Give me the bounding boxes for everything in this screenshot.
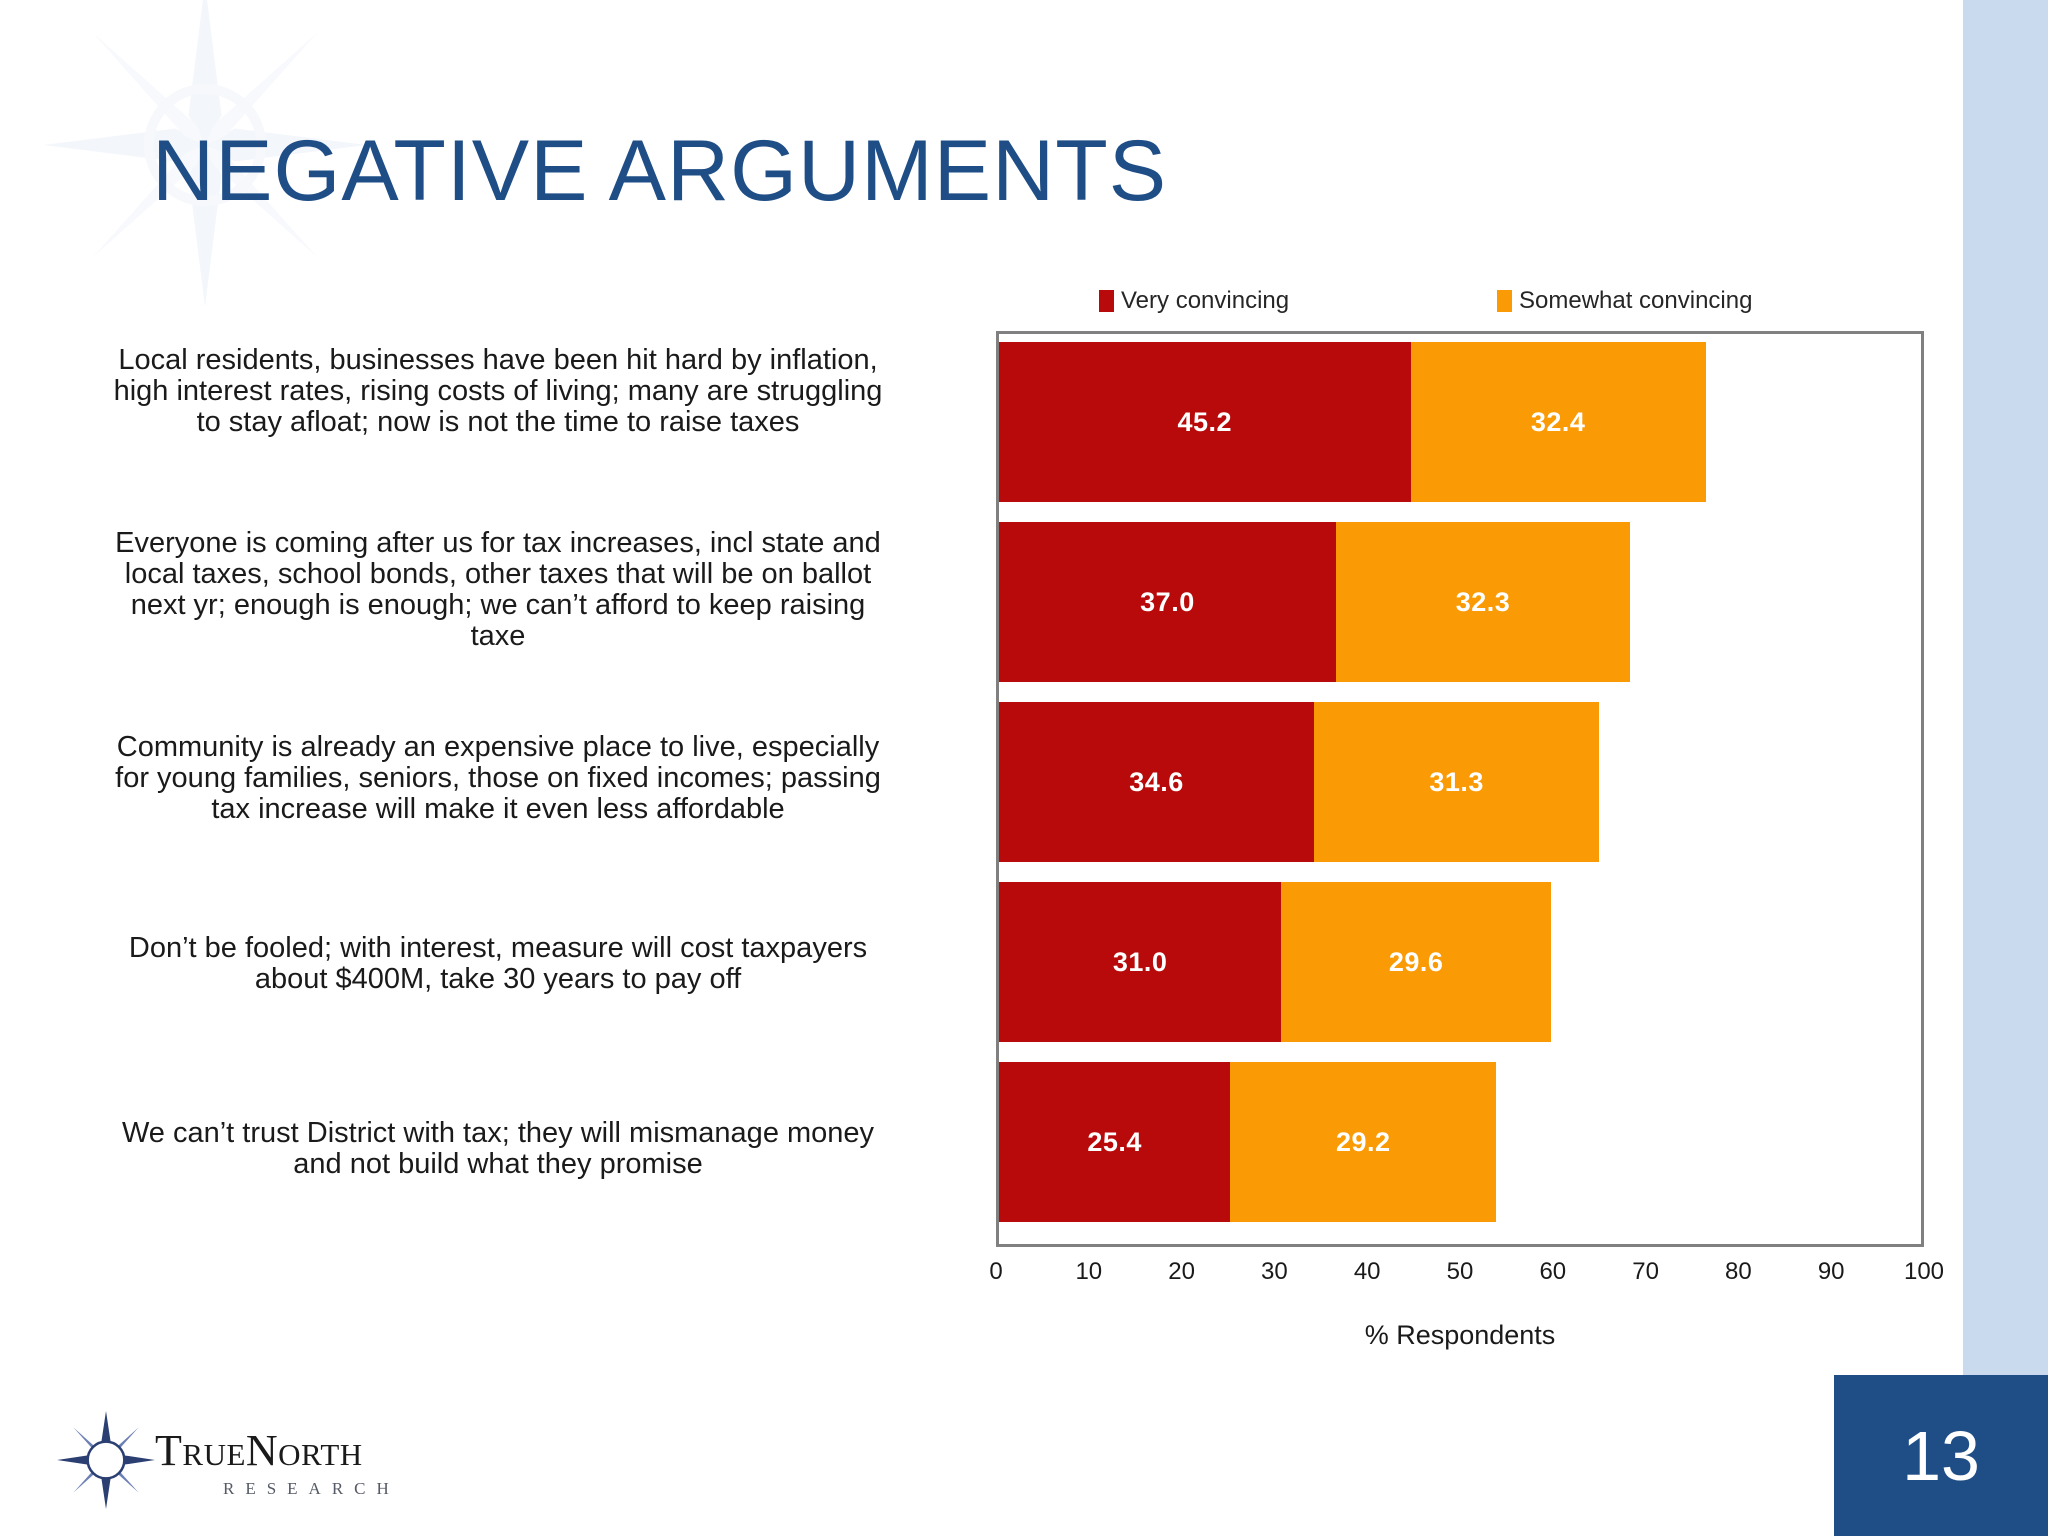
bar-segment-very-convincing[interactable]: 45.2 <box>999 342 1411 502</box>
logo-word-rue: RUE <box>182 1437 246 1472</box>
x-tick: 40 <box>1354 1258 1381 1286</box>
bar-segment-very-convincing[interactable]: 37.0 <box>999 522 1336 682</box>
logo-word-n: N <box>246 1426 278 1475</box>
bar-value-label: 29.2 <box>1336 1127 1391 1158</box>
truenorth-logo: TRUENORTH RESEARCH <box>55 1405 475 1515</box>
chart-bars-container: 45.2 32.4 37.0 32.3 34.6 31.3 <box>999 334 1921 1244</box>
page-number: 13 <box>1902 1416 1980 1496</box>
decorative-right-stripe <box>1963 0 2048 1406</box>
bar-segment-somewhat-convincing[interactable]: 31.3 <box>1314 702 1599 862</box>
category-label-3: Community is already an expensive place … <box>18 732 978 825</box>
bar-segment-very-convincing[interactable]: 34.6 <box>999 702 1314 862</box>
bar-value-label: 45.2 <box>1178 407 1233 438</box>
legend-item-somewhat-convincing[interactable]: Somewhat convincing <box>1497 287 1752 315</box>
slide-canvas: NEGATIVE ARGUMENTS Very convincing Somew… <box>0 0 2048 1536</box>
logo-word-t: T <box>155 1426 182 1475</box>
bar-segment-somewhat-convincing[interactable]: 29.6 <box>1281 882 1551 1042</box>
bar-segment-somewhat-convincing[interactable]: 32.3 <box>1336 522 1630 682</box>
table-row[interactable]: 37.0 32.3 <box>999 522 1630 682</box>
table-row[interactable]: 25.4 29.2 <box>999 1062 1496 1222</box>
table-row[interactable]: 34.6 31.3 <box>999 702 1599 862</box>
bar-segment-very-convincing[interactable]: 31.0 <box>999 882 1281 1042</box>
legend-label-somewhat-convincing: Somewhat convincing <box>1519 287 1752 315</box>
x-tick: 60 <box>1539 1258 1566 1286</box>
x-tick: 10 <box>1075 1258 1102 1286</box>
legend-swatch-very-convincing <box>1099 290 1114 312</box>
table-row[interactable]: 45.2 32.4 <box>999 342 1706 502</box>
bar-value-label: 37.0 <box>1140 587 1195 618</box>
bar-value-label: 31.3 <box>1429 767 1484 798</box>
bar-value-label: 34.6 <box>1129 767 1184 798</box>
bar-value-label: 25.4 <box>1087 1127 1142 1158</box>
legend-swatch-somewhat-convincing <box>1497 290 1512 312</box>
x-tick: 100 <box>1904 1258 1944 1286</box>
x-axis-ticks: 0 10 20 30 40 50 60 70 80 90 100 <box>996 1258 1924 1298</box>
bar-value-label: 32.3 <box>1456 587 1511 618</box>
logo-subtitle: RESEARCH <box>223 1479 400 1499</box>
x-tick: 90 <box>1818 1258 1845 1286</box>
category-label-2: Everyone is coming after us for tax incr… <box>18 528 978 652</box>
chart-plot-area: 45.2 32.4 37.0 32.3 34.6 31.3 <box>996 331 1924 1247</box>
x-tick: 70 <box>1632 1258 1659 1286</box>
bar-value-label: 32.4 <box>1531 407 1586 438</box>
category-label-4: Don’t be fooled; with interest, measure … <box>18 933 978 995</box>
bar-segment-somewhat-convincing[interactable]: 29.2 <box>1230 1062 1496 1222</box>
x-tick: 30 <box>1261 1258 1288 1286</box>
compass-rose-icon <box>55 1409 157 1511</box>
logo-wordmark: TRUENORTH <box>155 1425 363 1476</box>
logo-word-orth: ORTH <box>278 1437 363 1472</box>
bar-value-label: 29.6 <box>1389 947 1444 978</box>
chart-legend: Very convincing Somewhat convincing <box>1090 287 1930 321</box>
x-axis-title: % Respondents <box>996 1320 1924 1351</box>
x-tick: 50 <box>1447 1258 1474 1286</box>
category-label-5: We can’t trust District with tax; they w… <box>18 1118 978 1180</box>
x-tick: 80 <box>1725 1258 1752 1286</box>
bar-segment-somewhat-convincing[interactable]: 32.4 <box>1411 342 1706 502</box>
page-title: NEGATIVE ARGUMENTS <box>152 128 1167 214</box>
x-tick: 20 <box>1168 1258 1195 1286</box>
page-number-badge: 13 <box>1834 1375 2048 1536</box>
category-label-1: Local residents, businesses have been hi… <box>18 345 978 438</box>
table-row[interactable]: 31.0 29.6 <box>999 882 1551 1042</box>
legend-item-very-convincing[interactable]: Very convincing <box>1099 287 1289 315</box>
legend-label-very-convincing: Very convincing <box>1121 287 1289 315</box>
bar-segment-very-convincing[interactable]: 25.4 <box>999 1062 1230 1222</box>
bar-value-label: 31.0 <box>1113 947 1168 978</box>
x-tick: 0 <box>989 1258 1002 1286</box>
